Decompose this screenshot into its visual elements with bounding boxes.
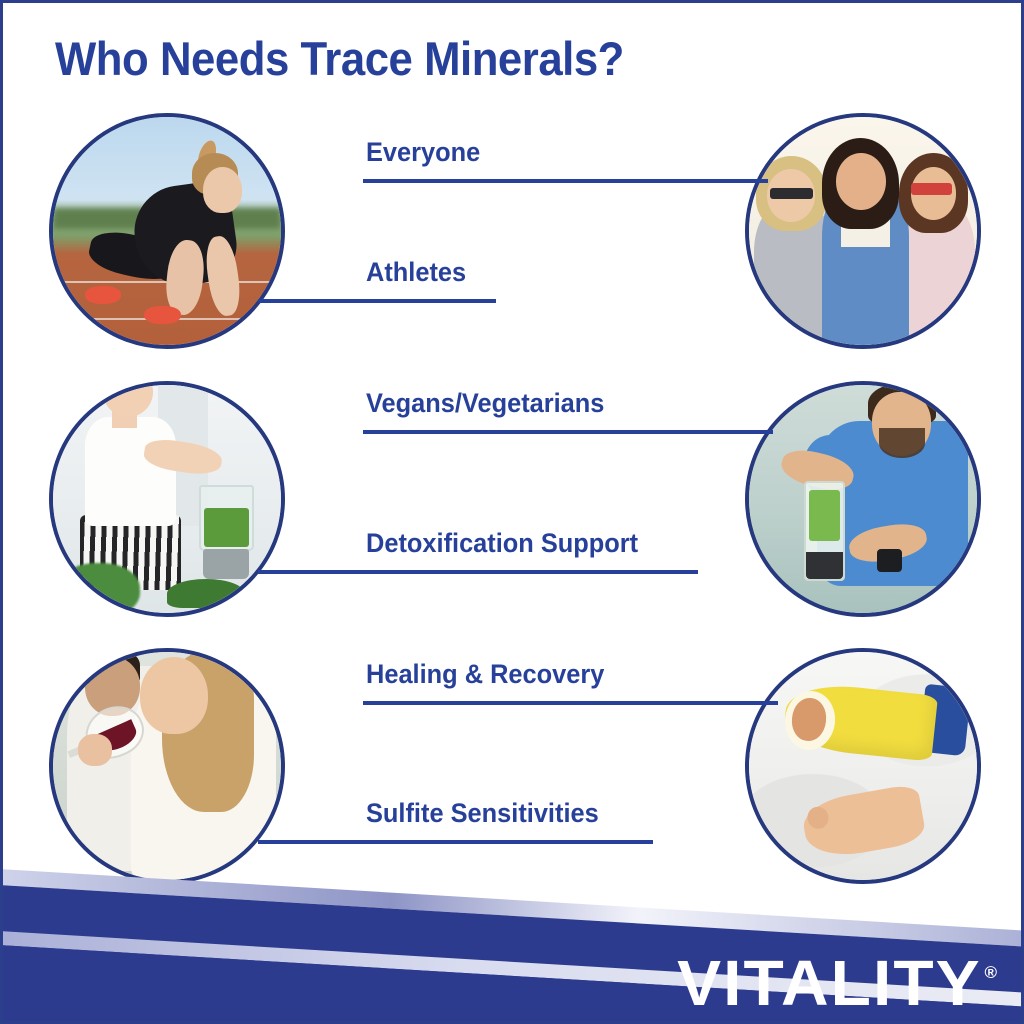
female-sprinter-scene <box>53 117 281 345</box>
woman-tank-top <box>85 417 176 526</box>
connector-athletes <box>258 299 496 303</box>
man-smoothie-photo <box>745 381 981 617</box>
brand-band: VITALITY ® <box>0 835 1024 1024</box>
man-smoothie-scene <box>749 385 977 613</box>
connector-everyone <box>363 179 768 183</box>
blender-jar <box>199 485 254 551</box>
foreground-plant <box>58 563 140 617</box>
runner-shoe <box>144 306 180 324</box>
vitality-logo: VITALITY ® <box>686 954 997 1013</box>
label-vegans-vegetarians: Vegans/Vegetarians <box>366 388 604 419</box>
woman-blender-scene <box>53 385 281 613</box>
three-friends-scene <box>749 117 977 345</box>
woman-head <box>140 657 208 735</box>
man-beard <box>879 428 925 458</box>
friend-center-face <box>836 153 886 210</box>
wristwatch <box>877 549 902 572</box>
connector-healing-recovery <box>363 701 778 705</box>
label-sulfite-sensitivities: Sulfite Sensitivities <box>366 798 599 829</box>
woman-hand <box>78 734 112 766</box>
runner-arm <box>203 234 243 317</box>
female-sprinter-photo <box>49 113 285 349</box>
connector-detoxification-support <box>258 570 698 574</box>
runner-head <box>203 167 242 213</box>
sunglasses-icon <box>911 183 952 194</box>
runner-shoe <box>85 286 121 304</box>
connector-vegans-vegetarians <box>363 430 773 434</box>
woman-blender-photo <box>49 381 285 617</box>
page-title: Who Needs Trace Minerals? <box>55 31 624 86</box>
blender-base <box>203 549 249 579</box>
registered-trademark-icon: ® <box>984 963 997 983</box>
woman-head <box>103 381 153 417</box>
label-detoxification-support: Detoxification Support <box>366 528 638 559</box>
label-everyone: Everyone <box>366 137 480 168</box>
infographic-poster: Who Needs Trace Minerals? <box>0 0 1024 1024</box>
label-athletes: Athletes <box>366 257 466 288</box>
three-friends-photo <box>745 113 981 349</box>
greens-pile <box>167 579 245 609</box>
label-healing-recovery: Healing & Recovery <box>366 659 604 690</box>
vitality-wordmark: VITALITY <box>677 954 982 1013</box>
smoothie-cup <box>804 481 845 581</box>
sunglasses-icon <box>770 188 813 199</box>
